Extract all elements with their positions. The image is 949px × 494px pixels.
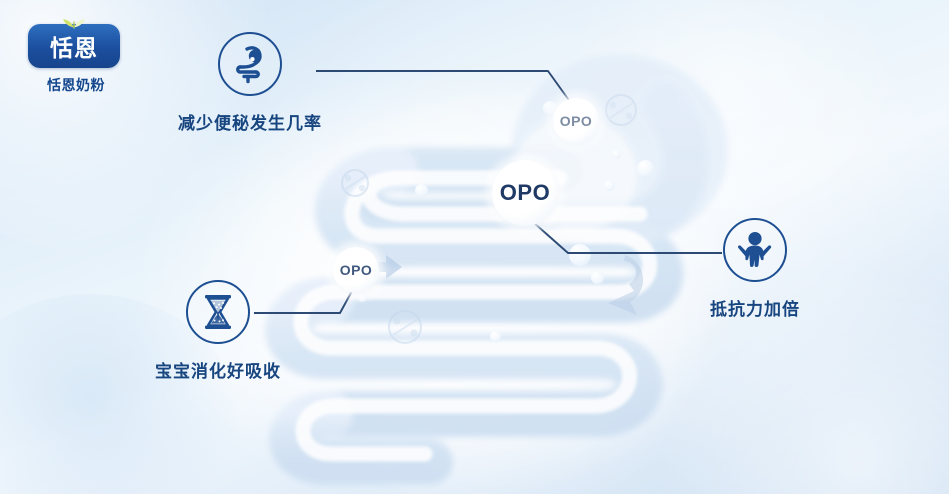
- opo-badge-lower-left[interactable]: OPO: [333, 247, 379, 293]
- brand-logo-subtitle: 恬恩奶粉: [28, 75, 124, 95]
- infographic-canvas: OPO OPO OPO 减少便秘发生几率: [0, 0, 949, 494]
- feature-icon-ring-digestion: [186, 280, 250, 344]
- opo-badge-lower-left-label: OPO: [340, 262, 373, 278]
- stomach-intestine-icon: [229, 43, 271, 85]
- winding-intestine-illustration: [0, 0, 949, 494]
- opo-badge-center[interactable]: OPO: [492, 160, 558, 226]
- child-figure-icon: [734, 229, 776, 271]
- brand-logo[interactable]: 恬恩 恬恩奶粉: [28, 24, 124, 95]
- brand-logo-text: 恬恩: [50, 29, 98, 63]
- feature-label-constipation: 减少便秘发生几率: [158, 109, 342, 134]
- feature-icon-ring-immunity: [723, 218, 787, 282]
- opo-badge-upper-right-label: OPO: [560, 113, 593, 129]
- opo-badge-upper-right[interactable]: OPO: [553, 98, 599, 144]
- brand-logo-box: 恬恩: [28, 24, 120, 68]
- feature-icon-ring-constipation: [218, 32, 282, 96]
- feature-label-immunity: 抵抗力加倍: [678, 295, 832, 320]
- leaf-sprout-icon: [59, 13, 89, 29]
- hourglass-icon: [198, 291, 238, 333]
- feature-label-digestion: 宝宝消化好吸收: [131, 357, 305, 382]
- feature-good-digestion[interactable]: 宝宝消化好吸收: [186, 280, 250, 382]
- opo-badge-center-label: OPO: [500, 180, 550, 206]
- feature-reduce-constipation[interactable]: 减少便秘发生几率: [218, 32, 282, 134]
- feature-double-immunity[interactable]: 抵抗力加倍: [723, 218, 787, 320]
